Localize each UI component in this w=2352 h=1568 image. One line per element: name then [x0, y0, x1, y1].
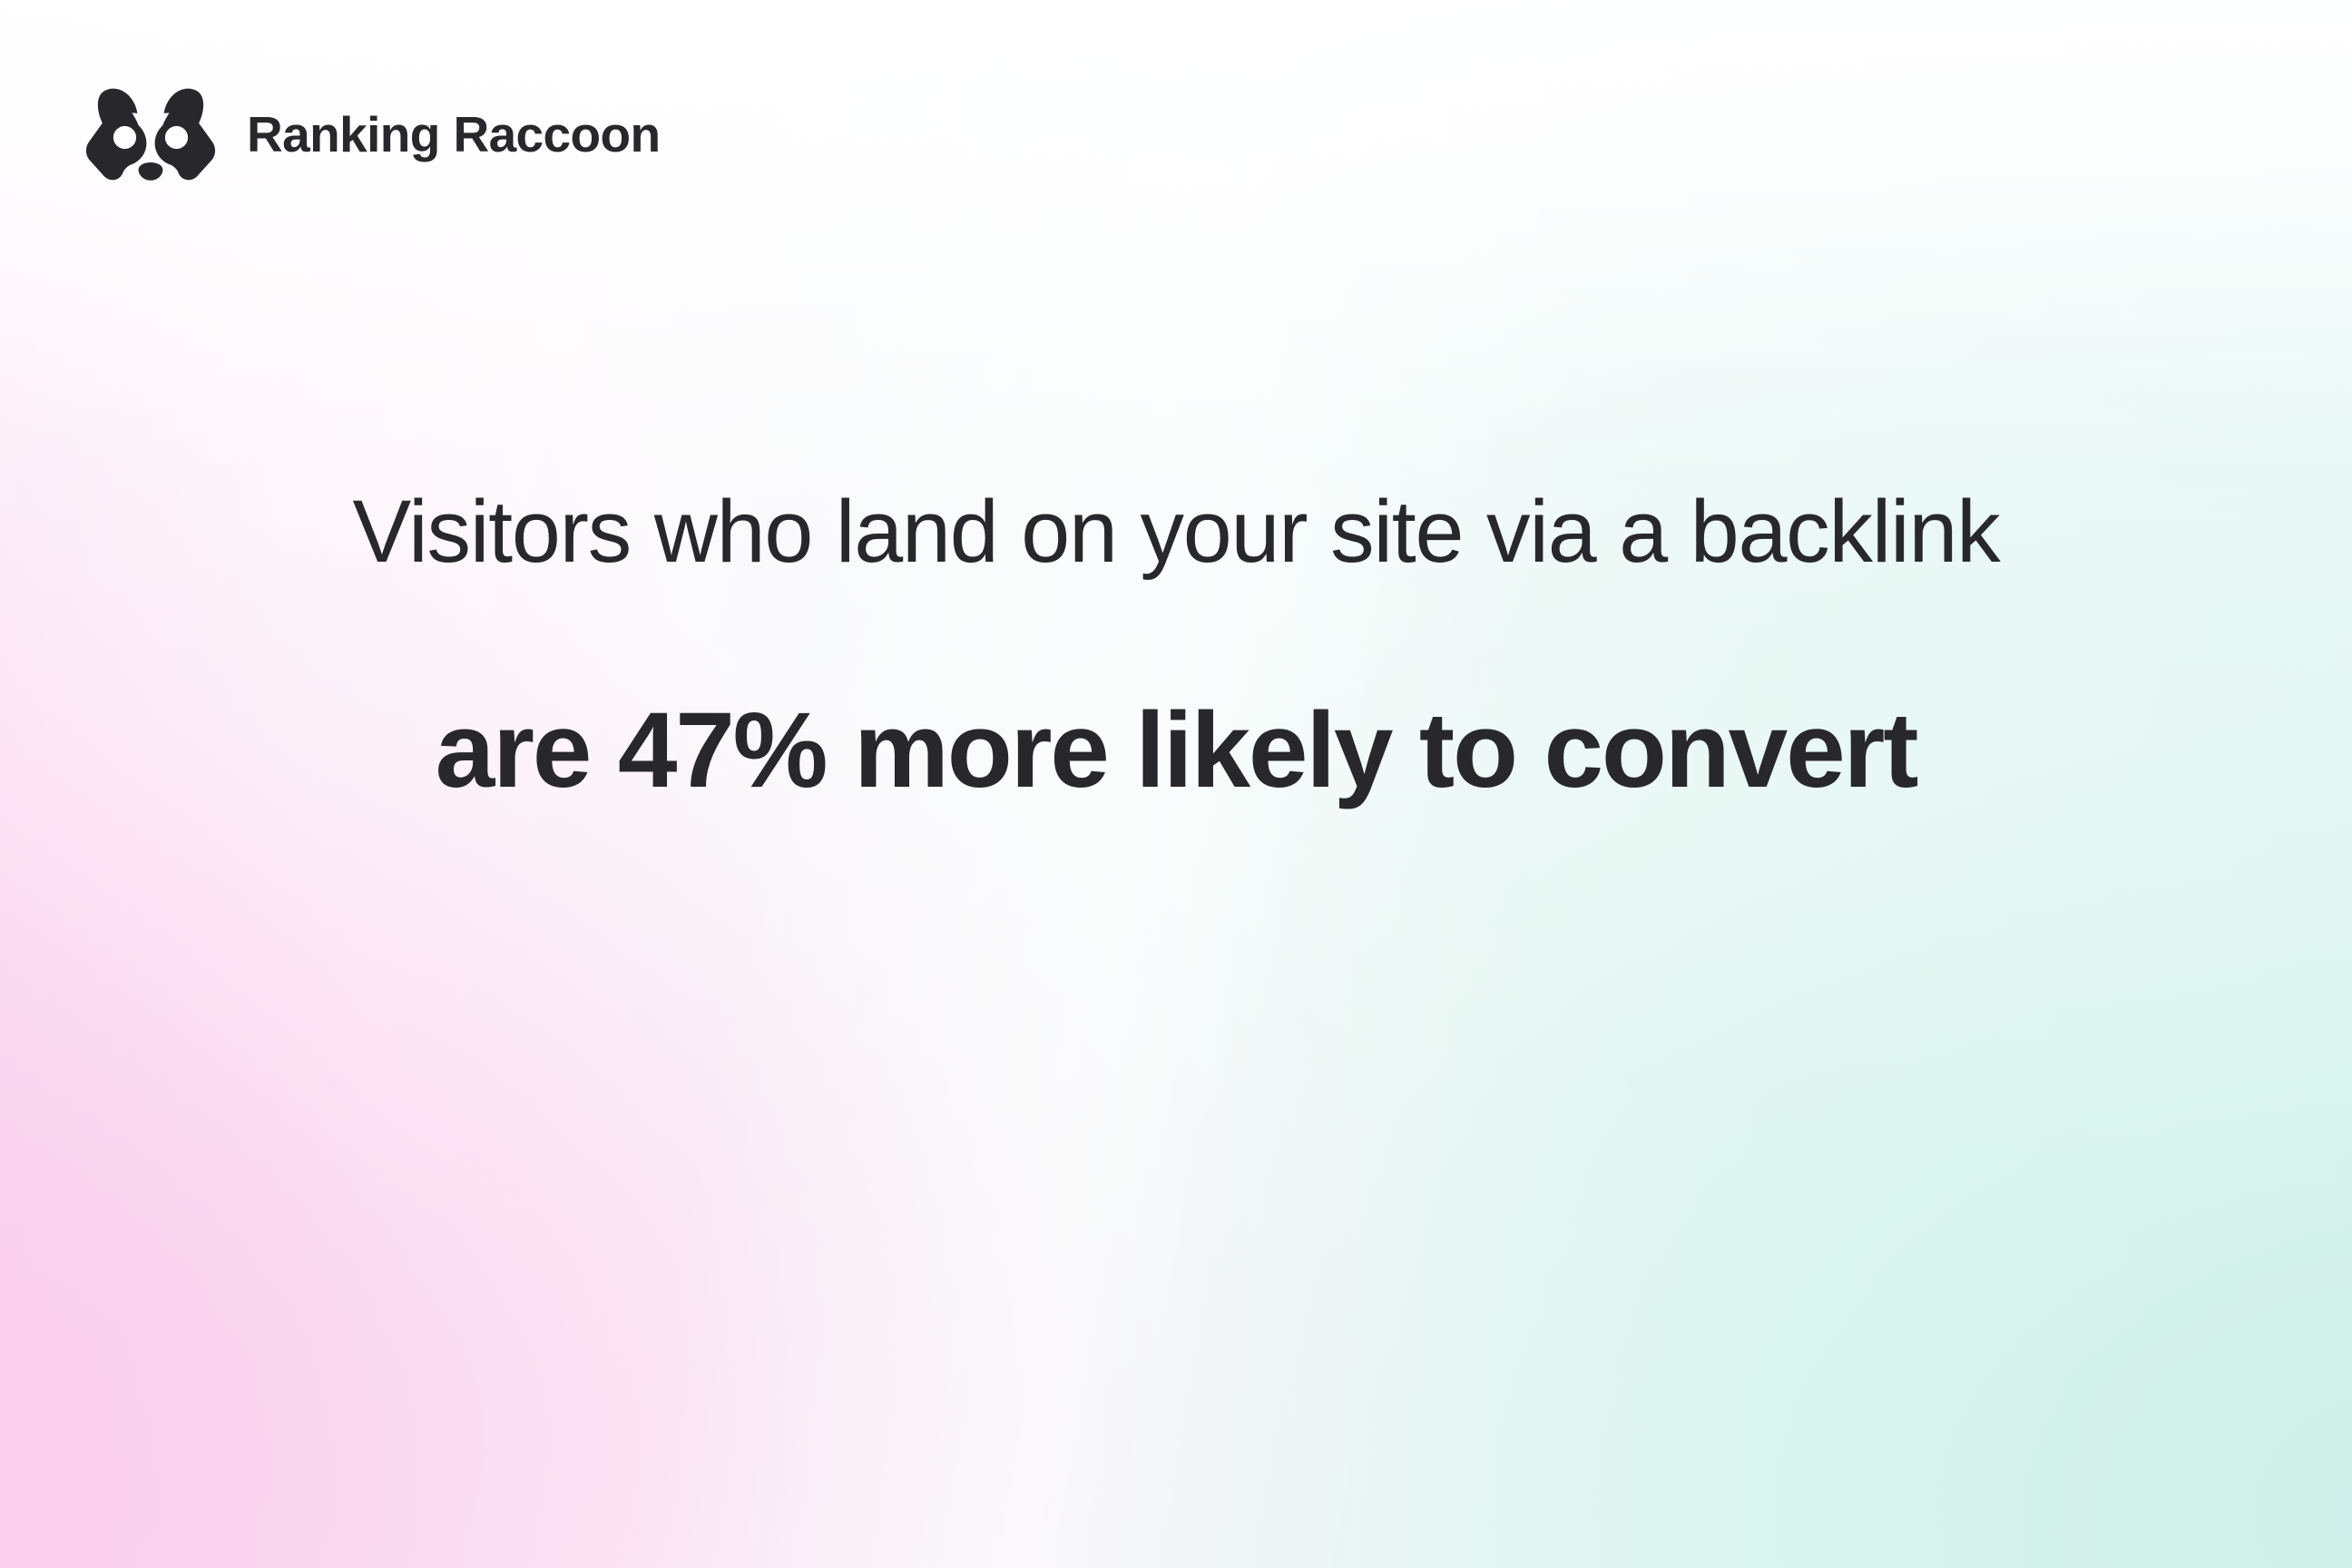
brand-name: Ranking Raccoon: [247, 110, 661, 160]
raccoon-face-icon: [83, 87, 218, 181]
brand-lockup: Ranking Raccoon: [83, 87, 661, 181]
headline-line-primary: Visitors who land on your site via a bac…: [82, 481, 2270, 583]
headline-line-emphasis: are 47% more likely to convert: [82, 690, 2270, 813]
promo-card: Ranking Raccoon Visitors who land on you…: [0, 0, 2352, 1568]
headline-block: Visitors who land on your site via a bac…: [0, 481, 2352, 812]
